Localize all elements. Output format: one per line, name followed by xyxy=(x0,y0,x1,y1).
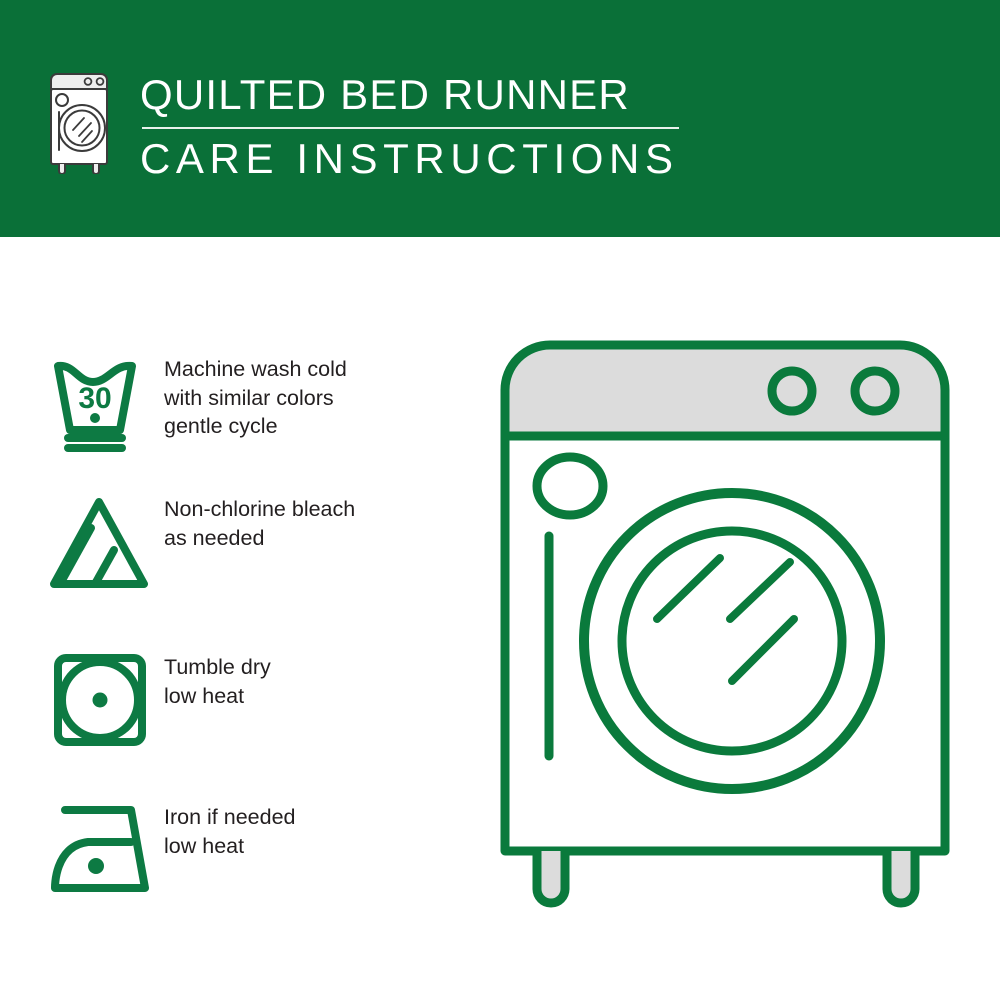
washing-machine-icon xyxy=(46,70,112,174)
page-subtitle: CARE INSTRUCTIONS xyxy=(140,136,740,182)
tumble-dry-low-heat-icon xyxy=(48,650,164,750)
title-divider xyxy=(142,127,679,129)
care-instructions-page: QUILTED BED RUNNER CARE INSTRUCTIONS 30 … xyxy=(0,0,1000,1000)
machine-wash-30-gentle-icon: 30 xyxy=(48,352,164,452)
header-band: QUILTED BED RUNNER CARE INSTRUCTIONS xyxy=(0,0,1000,237)
header-text-block: QUILTED BED RUNNER CARE INSTRUCTIONS xyxy=(140,72,740,182)
non-chlorine-bleach-triangle-icon xyxy=(48,492,164,592)
care-row-tumble-dry: Tumble dry low heat xyxy=(48,650,271,750)
care-label-machine-wash: Machine wash cold with similar colors ge… xyxy=(164,352,347,441)
page-title: QUILTED BED RUNNER xyxy=(140,72,740,118)
care-label-tumble-dry: Tumble dry low heat xyxy=(164,650,271,710)
wash-temperature-label: 30 xyxy=(78,382,111,415)
care-row-machine-wash: 30 Machine wash cold with similar colors… xyxy=(48,352,347,452)
care-label-iron: Iron if needed low heat xyxy=(164,800,296,860)
iron-low-heat-icon xyxy=(48,800,164,900)
care-row-bleach: Non-chlorine bleach as needed xyxy=(48,492,355,592)
washing-machine-illustration xyxy=(492,336,972,916)
care-row-iron: Iron if needed low heat xyxy=(48,800,296,900)
care-label-bleach: Non-chlorine bleach as needed xyxy=(164,492,355,552)
